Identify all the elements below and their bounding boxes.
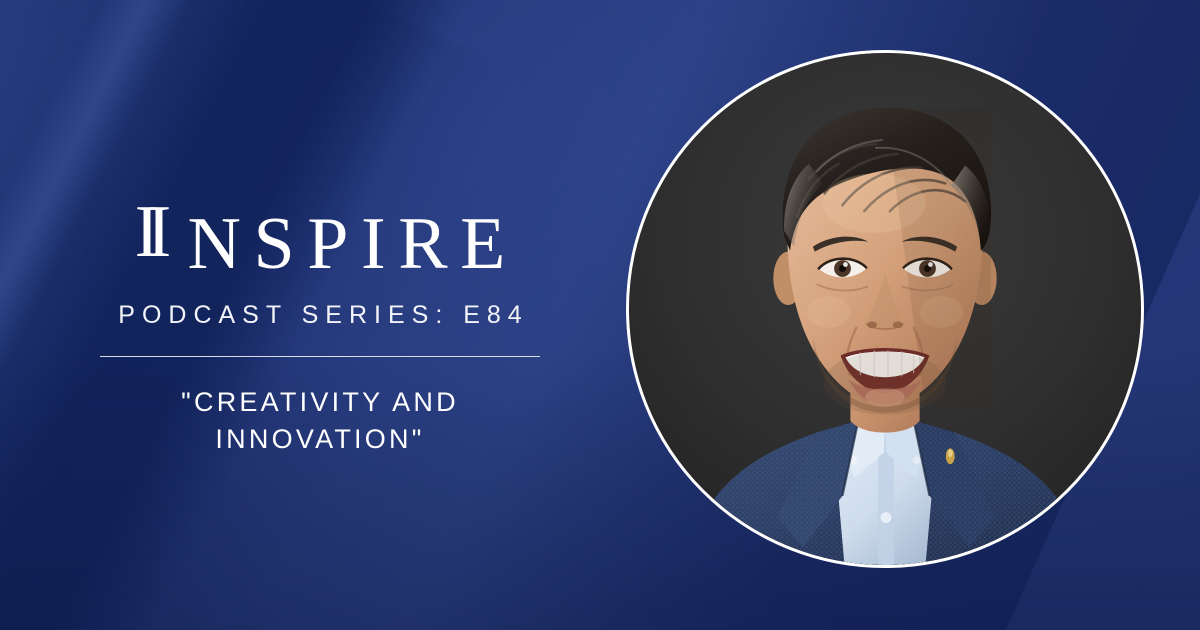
inspire-ligature-i-icon: I I: [122, 196, 166, 268]
episode-title: "CREATIVITY AND INNOVATION": [60, 384, 580, 457]
ligature-i-stroke-front: I: [134, 196, 184, 268]
episode-title-line-1: "CREATIVITY AND: [60, 384, 580, 421]
brand-wordmark: I I NSPIRE: [60, 196, 580, 281]
portrait-illustration: [629, 53, 1141, 565]
podcast-series-label: PODCAST SERIES: E84: [60, 301, 580, 330]
divider-rule: [100, 356, 540, 357]
guest-portrait: [626, 50, 1144, 568]
guest-portrait-image: [629, 53, 1141, 565]
title-block: I I NSPIRE PODCAST SERIES: E84 "CREATIVI…: [60, 196, 580, 457]
episode-title-line-2: INNOVATION": [60, 421, 580, 458]
brand-wordmark-text: NSPIRE: [175, 207, 518, 281]
podcast-cover-card: I I NSPIRE PODCAST SERIES: E84 "CREATIVI…: [0, 0, 1200, 630]
